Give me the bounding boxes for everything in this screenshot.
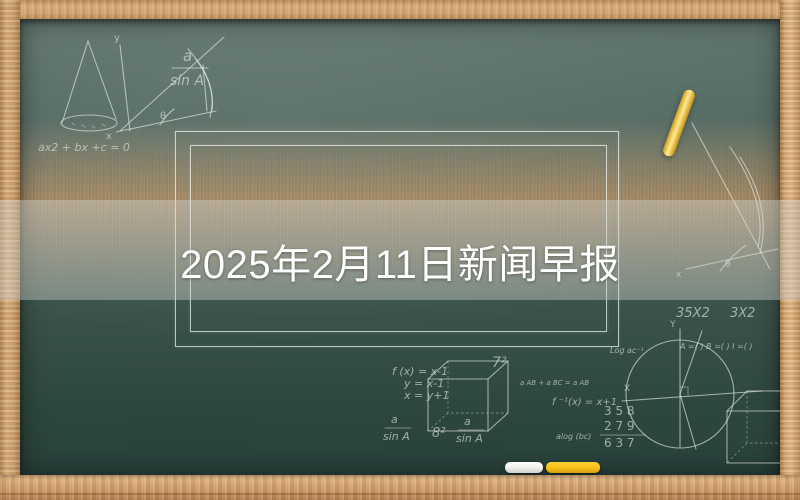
svg-text:a: a — [464, 415, 471, 428]
three-x-two: 3X2 — [730, 306, 755, 321]
alog-expression: alog (bc) — [556, 432, 591, 441]
svg-text:3 5 8: 3 5 8 — [604, 404, 635, 418]
svg-text:2 7 9: 2 7 9 — [604, 419, 635, 433]
svg-text:θ: θ — [160, 111, 166, 122]
svg-text:x: x — [106, 131, 112, 142]
svg-text:sin A: sin A — [383, 430, 410, 443]
circle-axes-drawing: Y X — [622, 320, 762, 449]
page-title: 2025年2月11日新闻早报 — [0, 232, 800, 290]
sine-ratio-bottom-left: a sin A — [383, 413, 411, 443]
chalk-tray-ledge — [0, 475, 800, 500]
cone-drawing — [61, 41, 117, 131]
quadratic-equation: ax2 + bx +c = 0 — [38, 141, 130, 154]
svg-text:x = y+1: x = y+1 — [403, 389, 449, 402]
svg-text:6 3 7: 6 3 7 — [604, 436, 635, 450]
tray-yellow-chalk — [546, 462, 600, 473]
sine-ratio-bottom-mid: a sin A — [456, 415, 484, 445]
svg-text:a: a — [391, 413, 398, 426]
matrix-expression: A =( ) B =( ) I =( ) — [679, 342, 753, 351]
thirtyfive-x-two: 35X2 — [676, 306, 710, 321]
svg-text:X: X — [624, 384, 630, 394]
eight-squared: 8² — [432, 426, 445, 441]
function-equations: f (x) = x-1 y = x-1 x = y+1 — [392, 365, 449, 402]
addition-column: 3 5 8 2 7 9 6 3 7 — [600, 404, 646, 450]
vector-identity: a AB + a BC = a AB — [520, 379, 589, 387]
frame-top-rail — [0, 0, 800, 19]
log-expression: Log ac⁻¹ — [610, 346, 644, 355]
chalkboard-scene: a sin A ax2 + bx +c = 0 y x θ — [0, 0, 800, 500]
svg-text:sin A: sin A — [456, 432, 483, 445]
cube-drawing-right — [727, 391, 780, 463]
svg-text:a: a — [183, 47, 192, 65]
svg-text:Y: Y — [669, 320, 676, 330]
tray-white-chalk — [505, 462, 543, 473]
svg-text:y: y — [114, 33, 120, 44]
angle-diagram: y x θ — [106, 33, 224, 142]
